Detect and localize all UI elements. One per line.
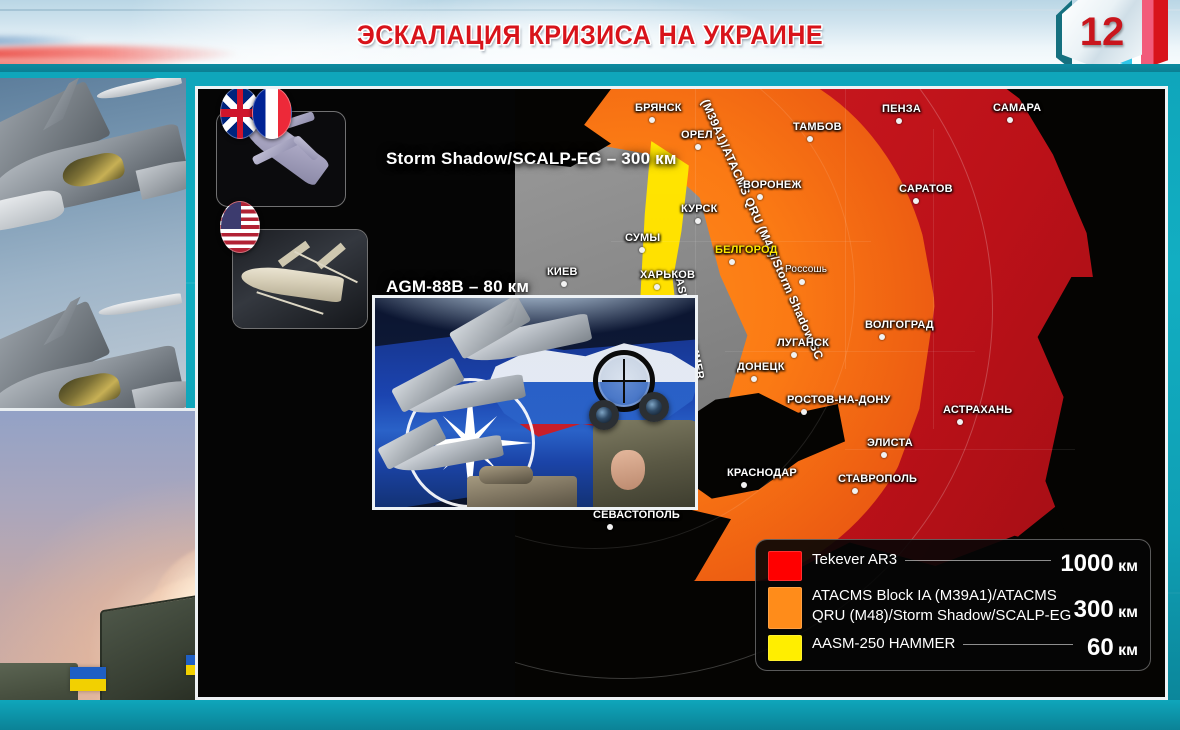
map-city-label: АСТРАХАНЬ: [943, 404, 1012, 416]
map-city-label: САРАТОВ: [899, 183, 953, 195]
map-city-label: РОСТОВ-НА-ДОНУ: [787, 394, 891, 406]
weapons-map-panel: (M39A1)/ATACMS QRU (M48)/Storm Shadow/SC…: [195, 86, 1168, 700]
jet-upper: [0, 96, 186, 246]
bottom-teal-bar: [0, 700, 1180, 730]
legend-value-number: 300: [1074, 596, 1114, 623]
map-city-dot: [654, 284, 660, 290]
map-city-label: ВОРОНЕЖ: [743, 179, 802, 191]
jet-lower: [0, 306, 186, 408]
map-city-label: ПЕНЗА: [882, 103, 921, 115]
legend-rows: Tekever AR31000 кмATACMS Block IA (M39A1…: [768, 550, 1138, 664]
legend-value-unit: км: [1114, 558, 1138, 575]
legend-label-line1: ATACMS Block IA (M39A1)/ATACMS: [812, 587, 1057, 604]
map-city-dot: [751, 376, 757, 382]
france-flag-icon: [252, 87, 292, 139]
legend-value: 300 км: [1074, 586, 1138, 622]
broadcast-graphic: ЭСКАЛАЦИЯ КРИЗИСА НА УКРАИНЕ 12: [0, 0, 1180, 730]
tank-turret: [479, 466, 533, 484]
map-city-label: СУМЫ: [625, 232, 660, 244]
weapon-label-agm88b: AGM-88B – 80 км: [386, 277, 529, 297]
map-city-label: СТАВРОПОЛЬ: [838, 473, 917, 485]
map-city-dot: [913, 198, 919, 204]
legend-row: AASM-250 HAMMER60 км: [768, 634, 1138, 664]
jet-inset-1: [441, 308, 601, 370]
weapon-label-storm-shadow: Storm Shadow/SCALP-EG – 300 км: [386, 149, 677, 169]
map-city-label: ОРЕЛ: [681, 129, 713, 141]
map-city-label: СЕВАСТОПОЛЬ: [593, 509, 680, 521]
map-city-dot: [799, 279, 805, 285]
legend-label: AASM-250 HAMMER: [802, 634, 1087, 654]
map-city-dot: [791, 352, 797, 358]
map-city-dot: [957, 419, 963, 425]
map-city-dot: [757, 194, 763, 200]
jet-missile: [98, 293, 183, 318]
usa-flag-icon: [220, 201, 260, 253]
map-city-label: ЛУГАНСК: [777, 337, 829, 349]
legend-value-number: 60: [1087, 634, 1114, 661]
map-legend: Tekever AR31000 кмATACMS Block IA (M39A1…: [755, 539, 1151, 671]
slide-number-badge: 12: [1052, 0, 1172, 72]
map-city-dot: [695, 218, 701, 224]
map-city-dot: [1007, 117, 1013, 123]
map-city-label: ЭЛИСТА: [867, 437, 913, 449]
map-city-dot: [639, 247, 645, 253]
map-city-dot: [881, 452, 887, 458]
legend-value: 1000 км: [1060, 550, 1138, 576]
legend-label-line1: Tekever AR3: [812, 551, 897, 568]
map-city-dot: [607, 524, 613, 530]
nato-russia-inset-photo: [372, 295, 698, 510]
map-city-label: КРАСНОДАР: [727, 467, 797, 479]
legend-leader-line: [905, 560, 1051, 561]
jet-missile: [96, 78, 182, 102]
map-city-dot: [649, 117, 655, 123]
legend-row: Tekever AR31000 км: [768, 550, 1138, 584]
header-bottom-bar: [0, 64, 1180, 72]
map-city-label: КИЕВ: [547, 266, 578, 278]
map-city-label: ВОЛГОГРАД: [865, 319, 934, 331]
map-city-label: Россошь: [785, 264, 827, 275]
legend-leader-line: [963, 644, 1073, 645]
badge-number: 12: [1062, 0, 1142, 70]
binoculars-icon: [639, 392, 669, 422]
map-city-label: САМАРА: [993, 102, 1041, 114]
legend-label-line1: AASM-250 HAMMER: [812, 635, 955, 652]
legend-value-unit: км: [1114, 604, 1138, 621]
legend-color-swatch: [768, 587, 802, 629]
ukraine-flag: [70, 667, 106, 691]
legend-label: Tekever AR3: [802, 550, 1060, 570]
map-city-dot: [801, 409, 807, 415]
map-city-dot: [807, 136, 813, 142]
map-city-dot: [695, 144, 701, 150]
header-bar: ЭСКАЛАЦИЯ КРИЗИСА НА УКРАИНЕ 12: [0, 0, 1180, 72]
map-city-label: ХАРЬКОВ: [640, 269, 695, 281]
map-city-dot: [879, 334, 885, 340]
map-city-label: ТАМБОВ: [793, 121, 842, 133]
map-city-dot: [561, 281, 567, 287]
spotter-soldier: [593, 420, 698, 510]
map-city-label: БРЯНСК: [635, 102, 682, 114]
map-city-label: ДОНЕЦК: [737, 361, 785, 373]
fighter-jets-photo: [0, 78, 186, 408]
legend-row: ATACMS Block IA (M39A1)/ATACMSQRU (M48)/…: [768, 586, 1138, 632]
page-title: ЭСКАЛАЦИЯ КРИЗИСА НА УКРАИНЕ: [41, 20, 1138, 51]
legend-value: 60 км: [1087, 634, 1138, 660]
map-city-label: КУРСК: [681, 203, 718, 215]
map-city-dot: [729, 259, 735, 265]
jet-inset-2: [387, 368, 547, 424]
map-city-label: БЕЛГОРОД: [715, 244, 778, 256]
binoculars-icon: [589, 400, 619, 430]
map-city-dot: [852, 488, 858, 494]
legend-label: ATACMS Block IA (M39A1)/ATACMSQRU (M48)/…: [802, 586, 1074, 626]
legend-value-number: 1000: [1060, 550, 1113, 577]
legend-value-unit: км: [1114, 642, 1138, 659]
legend-label-line2: QRU (M48)/Storm Shadow/SCALP-EG: [812, 606, 1074, 626]
spotter-face: [611, 450, 645, 490]
map-city-dot: [896, 118, 902, 124]
legend-color-swatch: [768, 551, 802, 581]
map-city-dot: [741, 482, 747, 488]
legend-color-swatch: [768, 635, 802, 661]
